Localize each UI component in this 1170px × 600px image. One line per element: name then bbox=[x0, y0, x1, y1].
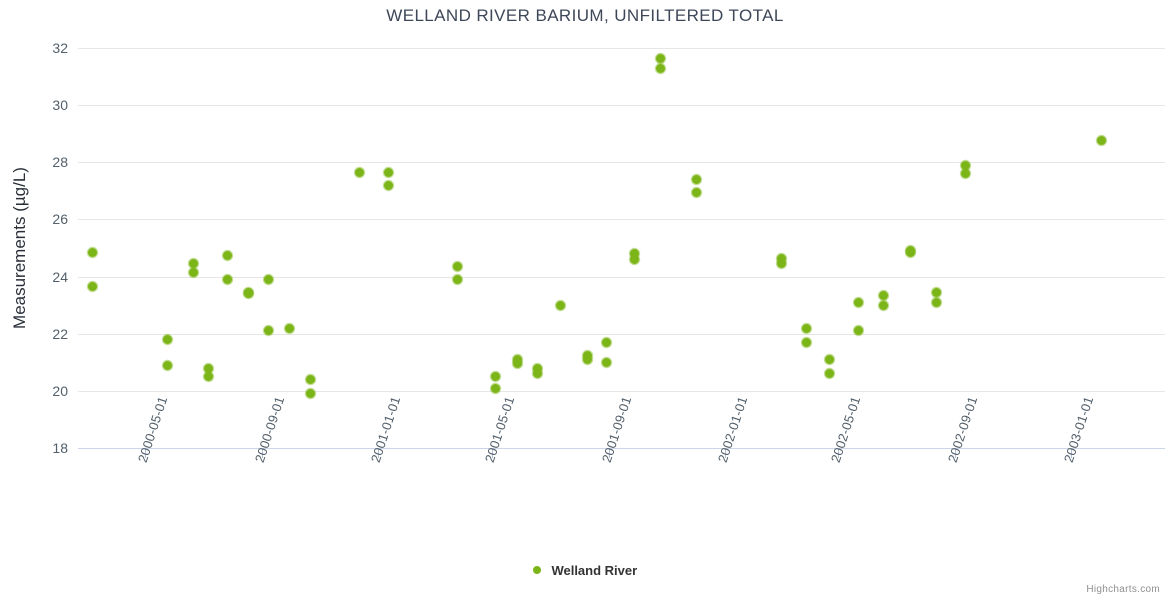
data-point[interactable] bbox=[825, 355, 834, 364]
data-point[interactable] bbox=[1097, 136, 1106, 145]
data-point[interactable] bbox=[491, 384, 500, 393]
data-point[interactable] bbox=[777, 259, 786, 268]
gridline bbox=[78, 48, 1165, 49]
gridline bbox=[78, 219, 1165, 220]
legend-item-label: Welland River bbox=[551, 563, 637, 578]
data-point[interactable] bbox=[656, 54, 665, 63]
chart-container: WELLAND RIVER BARIUM, UNFILTERED TOTAL M… bbox=[0, 0, 1170, 600]
data-point[interactable] bbox=[879, 301, 888, 310]
gridline bbox=[78, 105, 1165, 106]
data-point[interactable] bbox=[223, 251, 232, 260]
data-point[interactable] bbox=[692, 188, 701, 197]
plot-area bbox=[78, 48, 1165, 448]
data-point[interactable] bbox=[306, 389, 315, 398]
data-point[interactable] bbox=[802, 324, 811, 333]
legend-marker-icon bbox=[533, 566, 541, 574]
data-point[interactable] bbox=[583, 355, 592, 364]
data-point[interactable] bbox=[285, 324, 294, 333]
data-point[interactable] bbox=[384, 168, 393, 177]
data-point[interactable] bbox=[453, 275, 462, 284]
y-axis-tick-label: 28 bbox=[8, 154, 68, 170]
data-point[interactable] bbox=[556, 301, 565, 310]
data-point[interactable] bbox=[88, 282, 97, 291]
data-point[interactable] bbox=[189, 259, 198, 268]
gridline bbox=[78, 162, 1165, 163]
y-axis-tick-label: 20 bbox=[8, 383, 68, 399]
y-axis-tick-label: 22 bbox=[8, 326, 68, 342]
data-point[interactable] bbox=[355, 168, 364, 177]
data-point[interactable] bbox=[513, 359, 522, 368]
data-point[interactable] bbox=[204, 372, 213, 381]
chart-legend: Welland River bbox=[0, 562, 1170, 578]
data-point[interactable] bbox=[825, 369, 834, 378]
gridline bbox=[78, 391, 1165, 392]
data-point[interactable] bbox=[88, 248, 97, 257]
data-point[interactable] bbox=[163, 361, 172, 370]
gridline bbox=[78, 277, 1165, 278]
data-point[interactable] bbox=[244, 289, 253, 298]
data-point[interactable] bbox=[602, 338, 611, 347]
data-point[interactable] bbox=[453, 262, 462, 271]
data-point[interactable] bbox=[879, 291, 888, 300]
data-point[interactable] bbox=[656, 64, 665, 73]
data-point[interactable] bbox=[932, 288, 941, 297]
y-axis-tick-label: 32 bbox=[8, 40, 68, 56]
data-point[interactable] bbox=[306, 375, 315, 384]
y-axis-tick-label: 18 bbox=[8, 440, 68, 456]
data-point[interactable] bbox=[384, 181, 393, 190]
data-point[interactable] bbox=[163, 335, 172, 344]
data-point[interactable] bbox=[854, 298, 863, 307]
y-axis-tick-label: 24 bbox=[8, 269, 68, 285]
y-axis-tick-label: 26 bbox=[8, 211, 68, 227]
data-point[interactable] bbox=[961, 169, 970, 178]
data-point[interactable] bbox=[692, 175, 701, 184]
data-point[interactable] bbox=[932, 298, 941, 307]
data-point[interactable] bbox=[189, 268, 198, 277]
x-axis-line bbox=[78, 448, 1165, 449]
data-point[interactable] bbox=[533, 369, 542, 378]
data-point[interactable] bbox=[223, 275, 232, 284]
data-point[interactable] bbox=[630, 255, 639, 264]
data-point[interactable] bbox=[264, 275, 273, 284]
legend-item-welland-river[interactable]: Welland River bbox=[533, 562, 637, 577]
data-point[interactable] bbox=[491, 372, 500, 381]
gridline bbox=[78, 334, 1165, 335]
data-point[interactable] bbox=[906, 248, 915, 257]
y-axis-tick-label: 30 bbox=[8, 97, 68, 113]
data-point[interactable] bbox=[802, 338, 811, 347]
credits-link[interactable]: Highcharts.com bbox=[1086, 584, 1160, 595]
data-point[interactable] bbox=[602, 358, 611, 367]
y-axis-tick-labels: 1820222426283032 bbox=[4, 48, 68, 448]
chart-title: WELLAND RIVER BARIUM, UNFILTERED TOTAL bbox=[0, 6, 1170, 26]
